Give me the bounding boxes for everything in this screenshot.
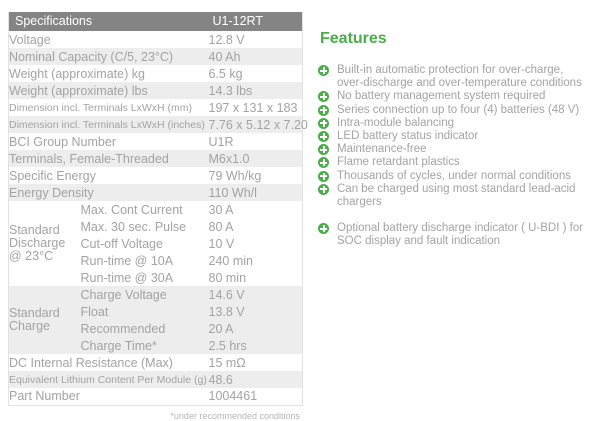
table-row: Specific Energy79 Wh/kg — [9, 167, 303, 184]
row-group-label: Standard Charge — [9, 286, 81, 354]
feature-text: Built-in automatic protection for over-c… — [337, 64, 582, 89]
row-label: Part Number — [9, 388, 209, 405]
feature-text: LED battery status indicator — [337, 130, 478, 142]
row-value: M6x1.0 — [209, 150, 303, 167]
feature-item: Built-in automatic protection for over-c… — [318, 64, 592, 90]
row-value: 79 Wh/kg — [209, 167, 303, 184]
row-value: 15 mΩ — [209, 354, 303, 371]
row-sub-label: Float — [81, 303, 209, 320]
row-label: Dimension incl. Terminals LxWxH (inches) — [9, 116, 209, 133]
feature-text: Maintenance-free — [337, 143, 427, 155]
table-row: Part Number1004461 — [9, 388, 303, 405]
feature-item: Flame retardant plastics — [318, 156, 592, 169]
row-value: 110 Wh/l — [209, 184, 303, 201]
features-title: Features — [320, 30, 592, 48]
feature-text: Series connection up to four (4) batteri… — [337, 104, 579, 116]
feature-text: Can be charged using most standard lead-… — [337, 183, 575, 208]
row-value: 6.5 kg — [209, 65, 303, 82]
row-sub-label: Run-time @ 10A — [81, 252, 209, 269]
row-label: Equivalent Lithium Content Per Module (g… — [9, 371, 209, 388]
row-value: 48.6 — [209, 371, 303, 388]
feature-item: Intra-module balancing — [318, 117, 592, 130]
plus-circle-icon — [318, 223, 329, 234]
row-label: Dimension incl. Terminals LxWxH (mm) — [9, 99, 209, 116]
specifications-panel: Specifications U1-12RT Voltage12.8 VNomi… — [8, 12, 302, 421]
specifications-table-body: Voltage12.8 VNominal Capacity (C/5, 23°C… — [9, 31, 303, 405]
plus-circle-icon — [318, 118, 329, 129]
row-value: 80 min — [209, 269, 303, 286]
row-group-label: Standard Discharge @ 23°C — [9, 201, 81, 286]
plus-circle-icon — [318, 171, 329, 182]
table-row: Voltage12.8 V — [9, 31, 303, 48]
features-list: Built-in automatic protection for over-c… — [318, 64, 592, 249]
feature-item-optional: Optional battery discharge indicator ( U… — [318, 222, 592, 248]
plus-circle-icon — [318, 157, 329, 168]
row-value: 10 V — [209, 235, 303, 252]
plus-circle-icon — [318, 65, 329, 76]
row-label: Specific Energy — [9, 167, 209, 184]
row-value: 20 A — [209, 320, 303, 337]
plus-circle-icon — [318, 184, 329, 195]
feature-item: No battery management system required — [318, 90, 592, 103]
row-label: Voltage — [9, 31, 209, 48]
specifications-table: Specifications U1-12RT Voltage12.8 VNomi… — [8, 12, 303, 406]
table-row: BCI Group NumberU1R — [9, 133, 303, 150]
feature-text: Flame retardant plastics — [337, 156, 460, 168]
row-sub-label: Charge Voltage — [81, 286, 209, 303]
plus-circle-icon — [318, 144, 329, 155]
row-label: BCI Group Number — [9, 133, 209, 150]
table-row: Dimension incl. Terminals LxWxH (inches)… — [9, 116, 303, 133]
table-row: Dimension incl. Terminals LxWxH (mm)197 … — [9, 99, 303, 116]
feature-text: Optional battery discharge indicator ( U… — [337, 222, 583, 247]
feature-item: Series connection up to four (4) batteri… — [318, 104, 592, 117]
row-value: 30 A — [209, 201, 303, 218]
feature-text: Thousands of cycles, under normal condit… — [337, 170, 571, 182]
table-footnote: *under recommended conditions — [8, 411, 302, 421]
table-row: DC Internal Resistance (Max)15 mΩ — [9, 354, 303, 371]
plus-circle-icon — [318, 91, 329, 102]
feature-item: Maintenance-free — [318, 143, 592, 156]
table-header-value: U1-12RT — [209, 12, 303, 31]
table-row: Standard Discharge @ 23°CMax. Cont Curre… — [9, 201, 303, 218]
row-value: 40 Ah — [209, 48, 303, 65]
row-value: 12.8 V — [209, 31, 303, 48]
row-value: 2.5 hrs — [209, 337, 303, 354]
feature-item: LED battery status indicator — [318, 130, 592, 143]
feature-item: Can be charged using most standard lead-… — [318, 183, 592, 209]
feature-text: No battery management system required — [337, 90, 545, 102]
row-value: 14.3 lbs — [209, 82, 303, 99]
row-sub-label: Charge Time* — [81, 337, 209, 354]
feature-text: Intra-module balancing — [337, 117, 454, 129]
row-sub-label: Run-time @ 30A — [81, 269, 209, 286]
row-value: U1R — [209, 133, 303, 150]
row-label: Energy Density — [9, 184, 209, 201]
table-row: Nominal Capacity (C/5, 23°C)40 Ah — [9, 48, 303, 65]
row-label: Weight (approximate) lbs — [9, 82, 209, 99]
row-value: 13.8 V — [209, 303, 303, 320]
row-value: 80 A — [209, 218, 303, 235]
row-label: Weight (approximate) kg — [9, 65, 209, 82]
table-row: Energy Density110 Wh/l — [9, 184, 303, 201]
row-value: 14.6 V — [209, 286, 303, 303]
row-label: Terminals, Female-Threaded — [9, 150, 209, 167]
row-value: 240 min — [209, 252, 303, 269]
row-sub-label: Max. 30 sec. Pulse — [81, 218, 209, 235]
row-value: 7.76 x 5.12 x 7.20 — [209, 116, 303, 133]
table-row: Equivalent Lithium Content Per Module (g… — [9, 371, 303, 388]
row-value: 1004461 — [209, 388, 303, 405]
row-sub-label: Cut-off Voltage — [81, 235, 209, 252]
table-row: Weight (approximate) lbs14.3 lbs — [9, 82, 303, 99]
table-row: Standard ChargeCharge Voltage14.6 V — [9, 286, 303, 303]
row-value: 197 x 131 x 183 — [209, 99, 303, 116]
feature-item: Thousands of cycles, under normal condit… — [318, 170, 592, 183]
table-row: Weight (approximate) kg6.5 kg — [9, 65, 303, 82]
plus-circle-icon — [318, 105, 329, 116]
table-header-row: Specifications U1-12RT — [9, 12, 303, 31]
table-header-label: Specifications — [9, 12, 209, 31]
row-label: Nominal Capacity (C/5, 23°C) — [9, 48, 209, 65]
table-row: Terminals, Female-ThreadedM6x1.0 — [9, 150, 303, 167]
row-label: DC Internal Resistance (Max) — [9, 354, 209, 371]
row-sub-label: Max. Cont Current — [81, 201, 209, 218]
plus-circle-icon — [318, 131, 329, 142]
features-panel: Features Built-in automatic protection f… — [318, 30, 592, 249]
row-sub-label: Recommended — [81, 320, 209, 337]
